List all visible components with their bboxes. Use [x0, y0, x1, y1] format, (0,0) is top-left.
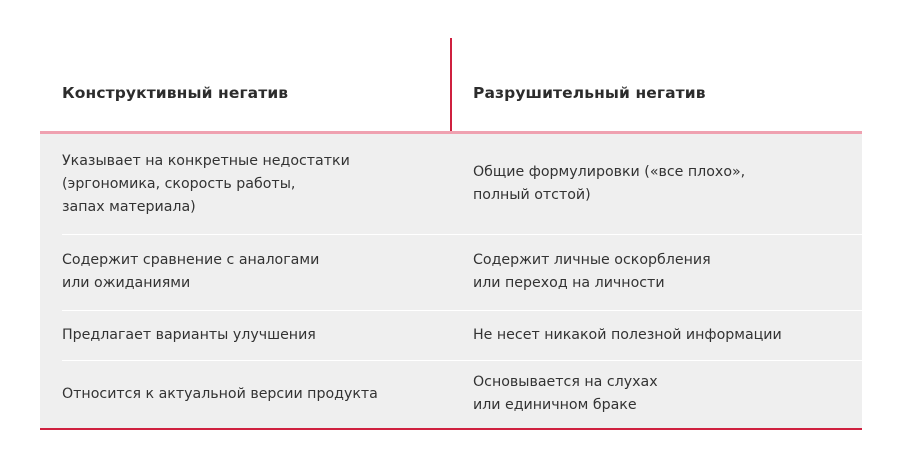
table-cell-right: Общие формулировки («все плохо», полный … [451, 134, 862, 234]
column-header-constructive: Конструктивный негатив [40, 56, 451, 130]
table-cell-left: Содержит сравнение с аналогами или ожида… [40, 234, 451, 310]
table-cell-right: Содержит личные оскорбления или переход … [451, 234, 862, 310]
table-cell-right: Основывается на слухах или единичном бра… [451, 360, 862, 428]
cell-text: Содержит сравнение с аналогами или ожида… [62, 249, 319, 295]
cell-text: Основывается на слухах или единичном бра… [473, 371, 658, 417]
table-cell-right: Не несет никакой полезной информации [451, 310, 862, 360]
cell-text: Относится к актуальной версии продукта [62, 383, 378, 406]
cell-text: Общие формулировки («все плохо», полный … [473, 161, 745, 207]
table-row: Предлагает варианты улучшения Не несет н… [40, 310, 862, 360]
cell-text: Указывает на конкретные недостатки (эрго… [62, 150, 350, 219]
table-cell-left: Относится к актуальной версии продукта [40, 360, 451, 428]
column-header-label: Конструктивный негатив [62, 84, 288, 103]
table-cell-left: Предлагает варианты улучшения [40, 310, 451, 360]
table-bottom-rule [40, 428, 862, 430]
cell-text: Не несет никакой полезной информации [473, 324, 782, 347]
cell-text: Предлагает варианты улучшения [62, 324, 316, 347]
cell-text: Содержит личные оскорбления или переход … [473, 249, 711, 295]
table-row: Указывает на конкретные недостатки (эрго… [40, 134, 862, 234]
table-body: Указывает на конкретные недостатки (эрго… [40, 134, 862, 428]
column-header-destructive: Разрушительный негатив [451, 56, 862, 130]
table-row: Содержит сравнение с аналогами или ожида… [40, 234, 862, 310]
column-header-label: Разрушительный негатив [473, 84, 706, 103]
table-row: Относится к актуальной версии продукта О… [40, 360, 862, 428]
table-header-row: Конструктивный негатив Разрушительный не… [40, 56, 862, 130]
comparison-table: Конструктивный негатив Разрушительный не… [0, 0, 900, 470]
table-cell-left: Указывает на конкретные недостатки (эрго… [40, 134, 451, 234]
